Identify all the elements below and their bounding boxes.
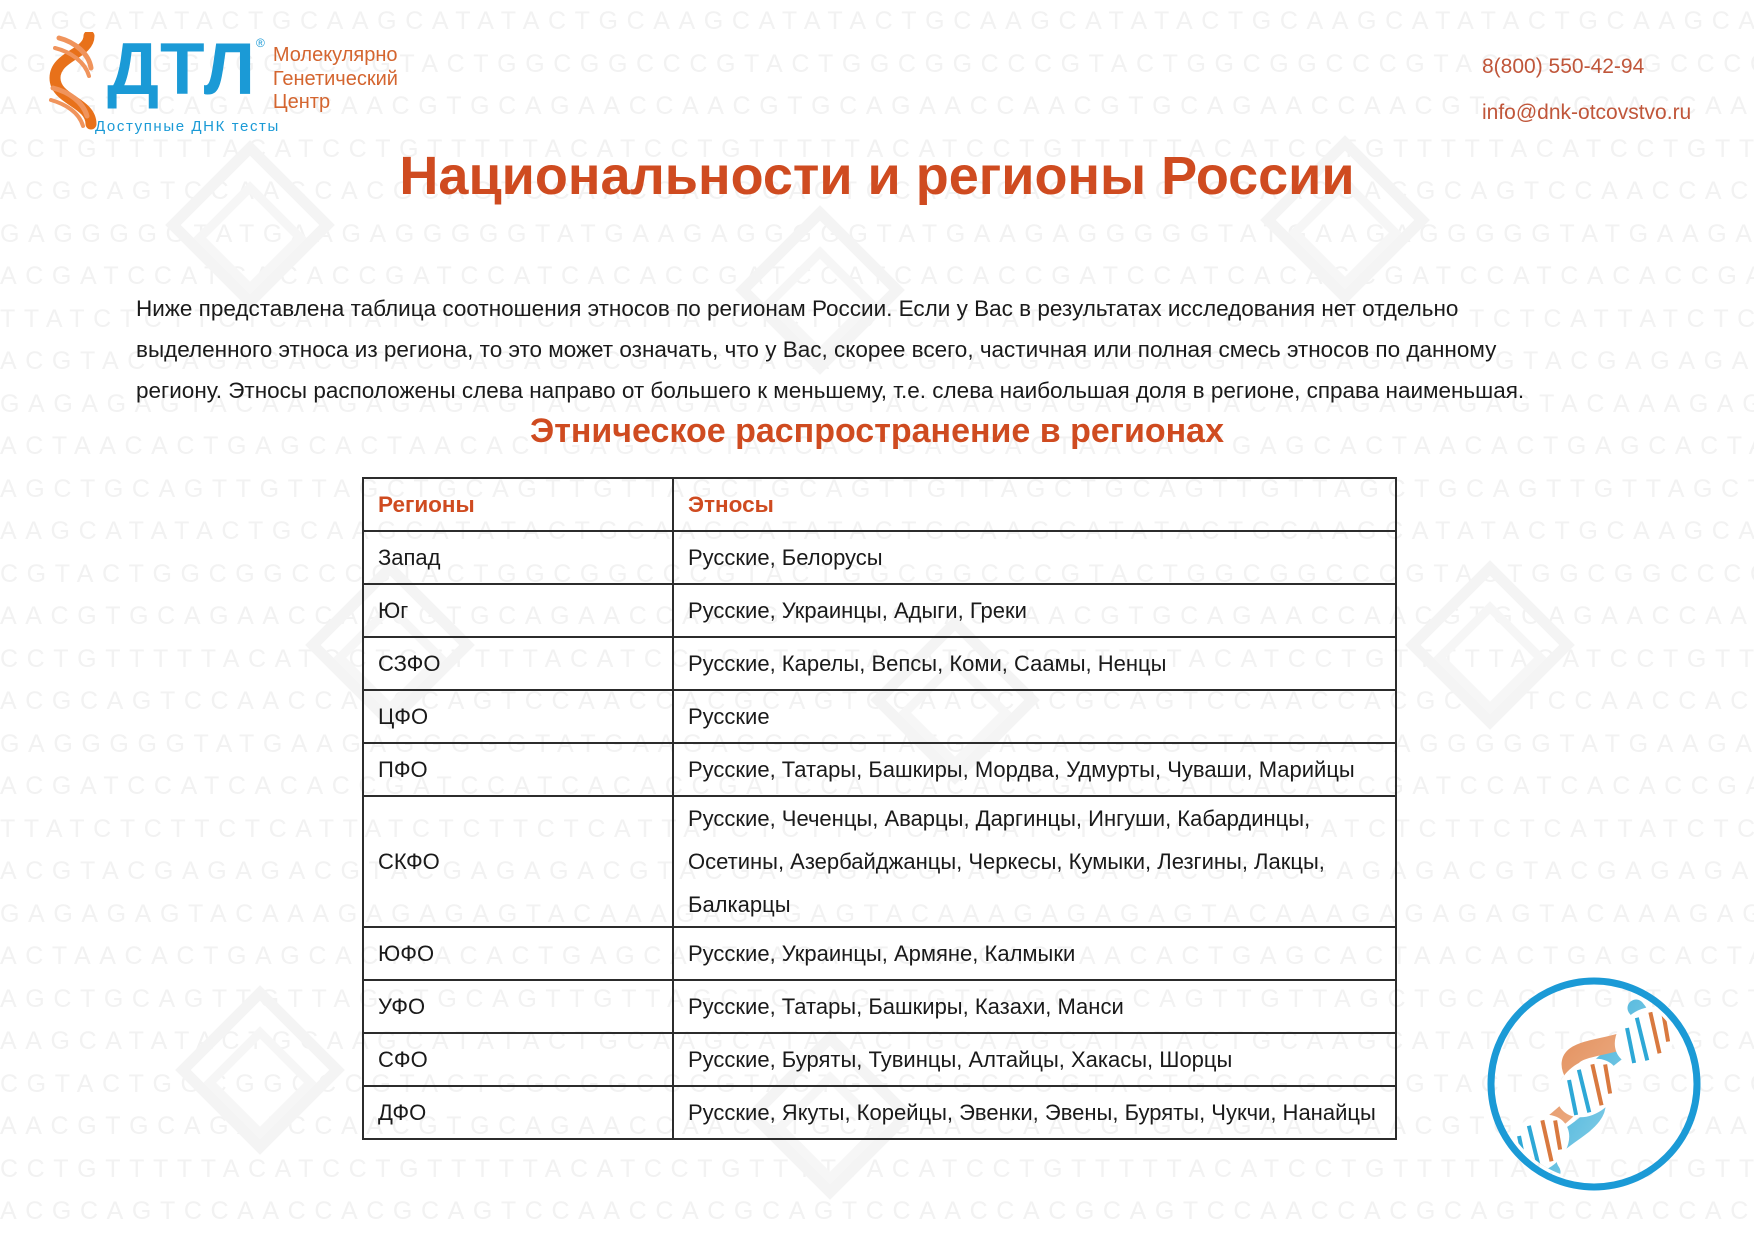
page-header: ДТЛ ® Молекулярно Генетический Центр Дос… [0, 0, 1754, 150]
phone-number[interactable]: 8(800) 550-42-94 [1482, 55, 1712, 79]
contact-info: 8(800) 550-42-94 info@dnk-otcovstvo.ru [1482, 55, 1712, 147]
document-page: AAGCATATACTGCAAGCATATACTGCAAGCATATACTGCA… [0, 0, 1754, 1241]
cell-region: УФО [363, 980, 673, 1033]
cell-ethnos: Русские [673, 690, 1396, 743]
table-row: СКФОРусские, Чеченцы, Аварцы, Даргинцы, … [363, 796, 1396, 927]
cell-region: ЦФО [363, 690, 673, 743]
cell-region: ПФО [363, 743, 673, 796]
dna-circle-icon [1478, 968, 1710, 1200]
cell-region: СФО [363, 1033, 673, 1086]
page-title: Национальности и регионы России [0, 145, 1754, 207]
cell-region: СЗФО [363, 637, 673, 690]
table-row: ЮФОРусские, Украинцы, Армяне, Калмыки [363, 927, 1396, 980]
cell-ethnos: Русские, Карелы, Вепсы, Коми, Саамы, Нен… [673, 637, 1396, 690]
table-row: СФОРусские, Буряты, Тувинцы, Алтайцы, Ха… [363, 1033, 1396, 1086]
brand-subtitle: Молекулярно Генетический Центр [273, 44, 398, 115]
cell-region: ДФО [363, 1086, 673, 1139]
cell-region: Юг [363, 584, 673, 637]
table-row: УФОРусские, Татары, Башкиры, Казахи, Ман… [363, 980, 1396, 1033]
brand-name: ДТЛ [107, 34, 256, 106]
table-row: ПФОРусские, Татары, Башкиры, Мордва, Удм… [363, 743, 1396, 796]
cell-ethnos: Русские, Буряты, Тувинцы, Алтайцы, Хакас… [673, 1033, 1396, 1086]
regions-ethnos-table: Регионы Этносы ЗападРусские, БелорусыЮгР… [362, 477, 1397, 1140]
brand-logo: ДТЛ ® Молекулярно Генетический Центр [45, 32, 398, 130]
cell-ethnos: Русские, Татары, Башкиры, Казахи, Манси [673, 980, 1396, 1033]
brand-tagline: Доступные ДНК тесты [95, 118, 280, 135]
brand-subtitle-line-2: Генетический [273, 68, 398, 92]
cell-ethnos: Русские, Чеченцы, Аварцы, Даргинцы, Ингу… [673, 796, 1396, 927]
dna-helix-icon [45, 32, 103, 130]
cell-ethnos: Русские, Якуты, Корейцы, Эвенки, Эвены, … [673, 1086, 1396, 1139]
cell-region: СКФО [363, 796, 673, 927]
section-title: Этническое распространение в регионах [0, 412, 1754, 451]
table-row: ДФОРусские, Якуты, Корейцы, Эвенки, Эвен… [363, 1086, 1396, 1139]
intro-paragraph: Ниже представлена таблица соотношения эт… [136, 288, 1550, 411]
regions-table-container: Регионы Этносы ЗападРусские, БелорусыЮгР… [362, 477, 1395, 1140]
cell-ethnos: Русские, Белорусы [673, 531, 1396, 584]
table-row: ЮгРусские, Украинцы, Адыги, Греки [363, 584, 1396, 637]
brand-subtitle-line-3: Центр [273, 91, 398, 115]
trademark-symbol: ® [256, 36, 265, 50]
brand-subtitle-line-1: Молекулярно [273, 44, 398, 68]
column-header-regions: Регионы [363, 478, 673, 531]
cell-ethnos: Русские, Украинцы, Адыги, Греки [673, 584, 1396, 637]
email-address[interactable]: info@dnk-otcovstvo.ru [1482, 101, 1712, 125]
cell-ethnos: Русские, Украинцы, Армяне, Калмыки [673, 927, 1396, 980]
table-row: ЗападРусские, Белорусы [363, 531, 1396, 584]
cell-ethnos: Русские, Татары, Башкиры, Мордва, Удмурт… [673, 743, 1396, 796]
table-row: ЦФОРусские [363, 690, 1396, 743]
table-row: СЗФОРусские, Карелы, Вепсы, Коми, Саамы,… [363, 637, 1396, 690]
cell-region: Запад [363, 531, 673, 584]
table-header-row: Регионы Этносы [363, 478, 1396, 531]
table-head: Регионы Этносы [363, 478, 1396, 531]
column-header-ethnos: Этносы [673, 478, 1396, 531]
table-body: ЗападРусские, БелорусыЮгРусские, Украинц… [363, 531, 1396, 1139]
cell-region: ЮФО [363, 927, 673, 980]
